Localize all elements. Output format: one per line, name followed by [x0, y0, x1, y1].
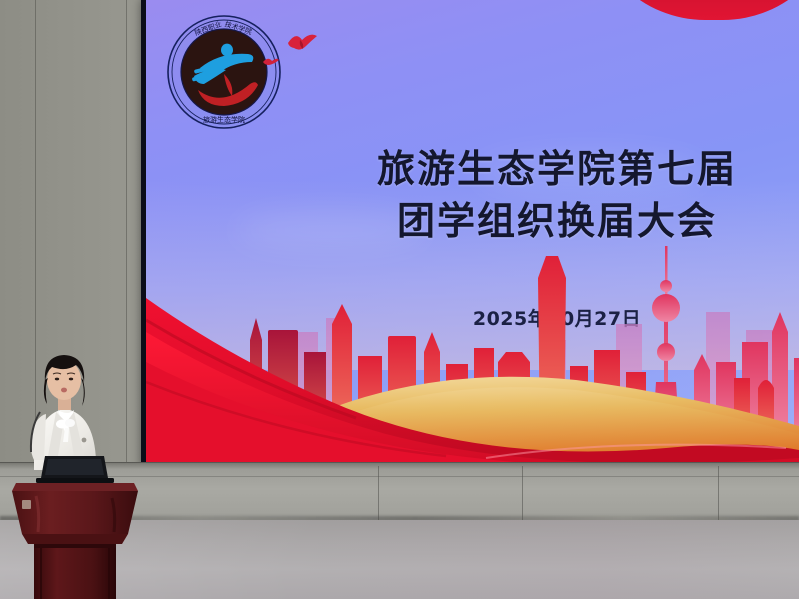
led-screen: 陕西职业 技术学院 旅游生态学院 旅游生态学院第七届 团学组织换届大会 2025 — [146, 0, 799, 462]
speaker-and-podium — [0, 352, 160, 599]
stage-panel-seam — [378, 466, 379, 522]
stage-panel-seam — [522, 466, 523, 522]
laptop-on-podium — [36, 456, 114, 483]
flying-bird-icon — [262, 54, 280, 72]
conference-photo: 陕西职业 技术学院 旅游生态学院 旅游生态学院第七届 团学组织换届大会 2025 — [0, 0, 799, 599]
lectern — [12, 483, 138, 599]
skyline-and-drape-graphic — [146, 212, 799, 462]
svg-text:旅游生态学院: 旅游生态学院 — [203, 115, 245, 124]
stage-panel-seam — [718, 466, 719, 522]
school-emblem-logo: 陕西职业 技术学院 旅游生态学院 — [164, 12, 284, 132]
flying-bird-icon — [284, 27, 320, 60]
speaker-figure — [31, 355, 96, 470]
slide-title-line-1: 旅游生态学院第七届 — [342, 143, 772, 195]
